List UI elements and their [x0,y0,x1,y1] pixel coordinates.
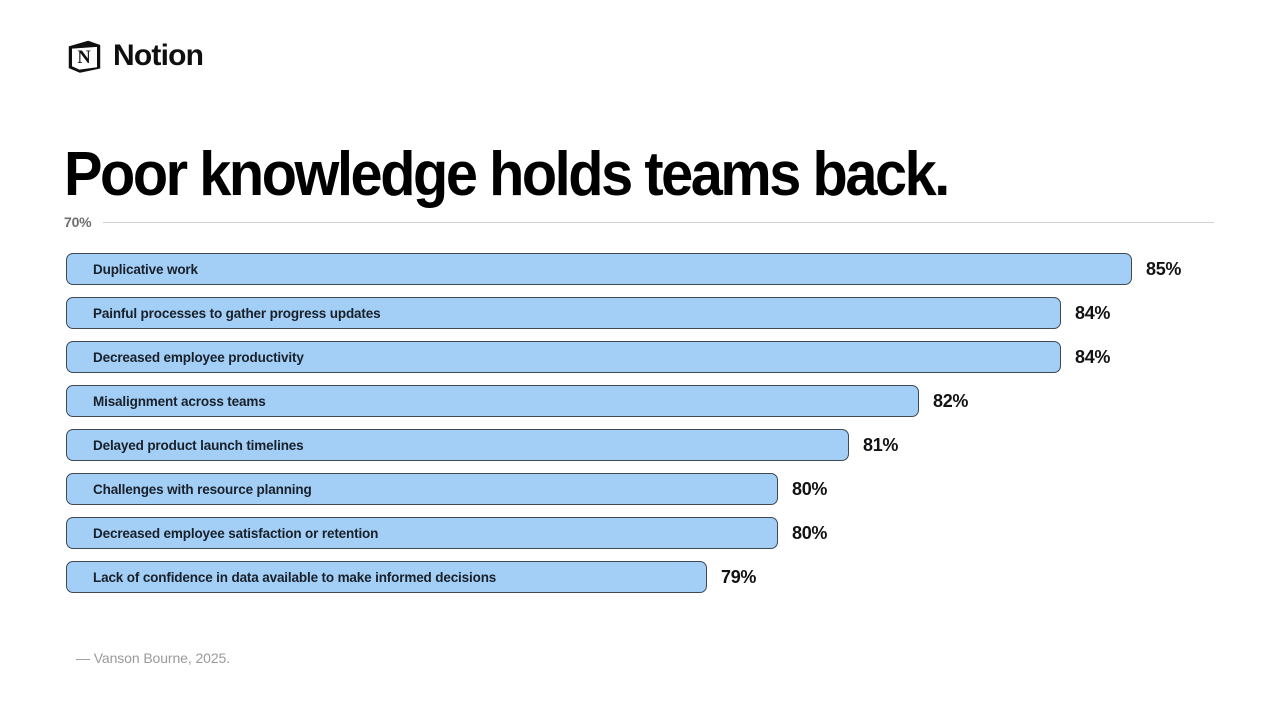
bar-value-label: 81% [863,435,898,456]
axis-grid-line [103,222,1214,223]
bar-row: Duplicative work85% [66,253,1226,285]
bar-category-label: Decreased employee satisfaction or reten… [67,526,378,541]
bar: Lack of confidence in data available to … [66,561,707,593]
bar-row: Delayed product launch timelines81% [66,429,1226,461]
bar-row: Decreased employee satisfaction or reten… [66,517,1226,549]
bar: Misalignment across teams [66,385,919,417]
bar-category-label: Duplicative work [67,262,198,277]
bar: Decreased employee satisfaction or reten… [66,517,778,549]
bar-row: Lack of confidence in data available to … [66,561,1226,593]
bar-value-label: 79% [721,567,756,588]
bar-row: Misalignment across teams82% [66,385,1226,417]
bar-value-label: 84% [1075,303,1110,324]
notion-cube-icon: N [66,38,103,75]
brand-name: Notion [113,41,203,71]
bar: Decreased employee productivity [66,341,1061,373]
bar: Challenges with resource planning [66,473,778,505]
brand-lockup: N Notion [66,36,203,76]
slide-canvas: N Notion Poor knowledge holds teams back… [0,0,1280,720]
bar-category-label: Painful processes to gather progress upd… [67,306,380,321]
bar-category-label: Lack of confidence in data available to … [67,570,496,585]
bar-value-label: 80% [792,479,827,500]
bar-category-label: Misalignment across teams [67,394,266,409]
bar-value-label: 85% [1146,259,1181,280]
bar: Duplicative work [66,253,1132,285]
bar-value-label: 84% [1075,347,1110,368]
source-citation: — Vanson Bourne, 2025. [76,650,230,666]
axis-tick-label-70: 70% [64,214,91,230]
bar-value-label: 80% [792,523,827,544]
bar-category-label: Delayed product launch timelines [67,438,304,453]
bar-row: Painful processes to gather progress upd… [66,297,1226,329]
bar-value-label: 82% [933,391,968,412]
chart-axis: 70% [64,211,1214,233]
svg-text:N: N [77,47,91,67]
bar-category-label: Challenges with resource planning [67,482,312,497]
bar-category-label: Decreased employee productivity [67,350,304,365]
page-title: Poor knowledge holds teams back. [64,142,1134,208]
bar-row: Decreased employee productivity84% [66,341,1226,373]
horizontal-bar-chart: Duplicative work85%Painful processes to … [66,253,1226,605]
bar: Delayed product launch timelines [66,429,849,461]
bar-row: Challenges with resource planning80% [66,473,1226,505]
bar: Painful processes to gather progress upd… [66,297,1061,329]
